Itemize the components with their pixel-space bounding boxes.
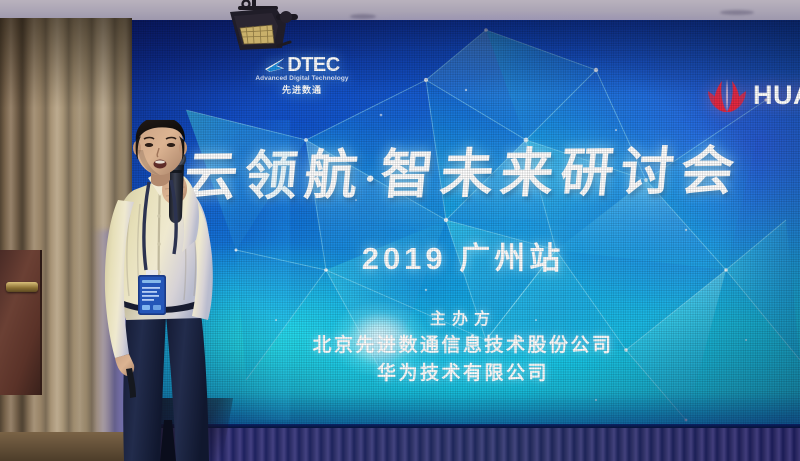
ceiling-fixture-mark bbox=[350, 14, 376, 19]
door-handle[interactable] bbox=[6, 282, 38, 292]
stage-spotlight-fixture bbox=[216, 0, 308, 60]
curtain-top-shadow bbox=[0, 18, 132, 108]
conference-stage-scene: DTEC Advanced Digital Technology 先进数通 HU… bbox=[0, 0, 800, 461]
door-panel bbox=[0, 250, 42, 395]
ceiling-fixture-mark bbox=[720, 10, 754, 15]
conference-badge bbox=[138, 275, 166, 315]
speaker-person bbox=[96, 120, 271, 461]
